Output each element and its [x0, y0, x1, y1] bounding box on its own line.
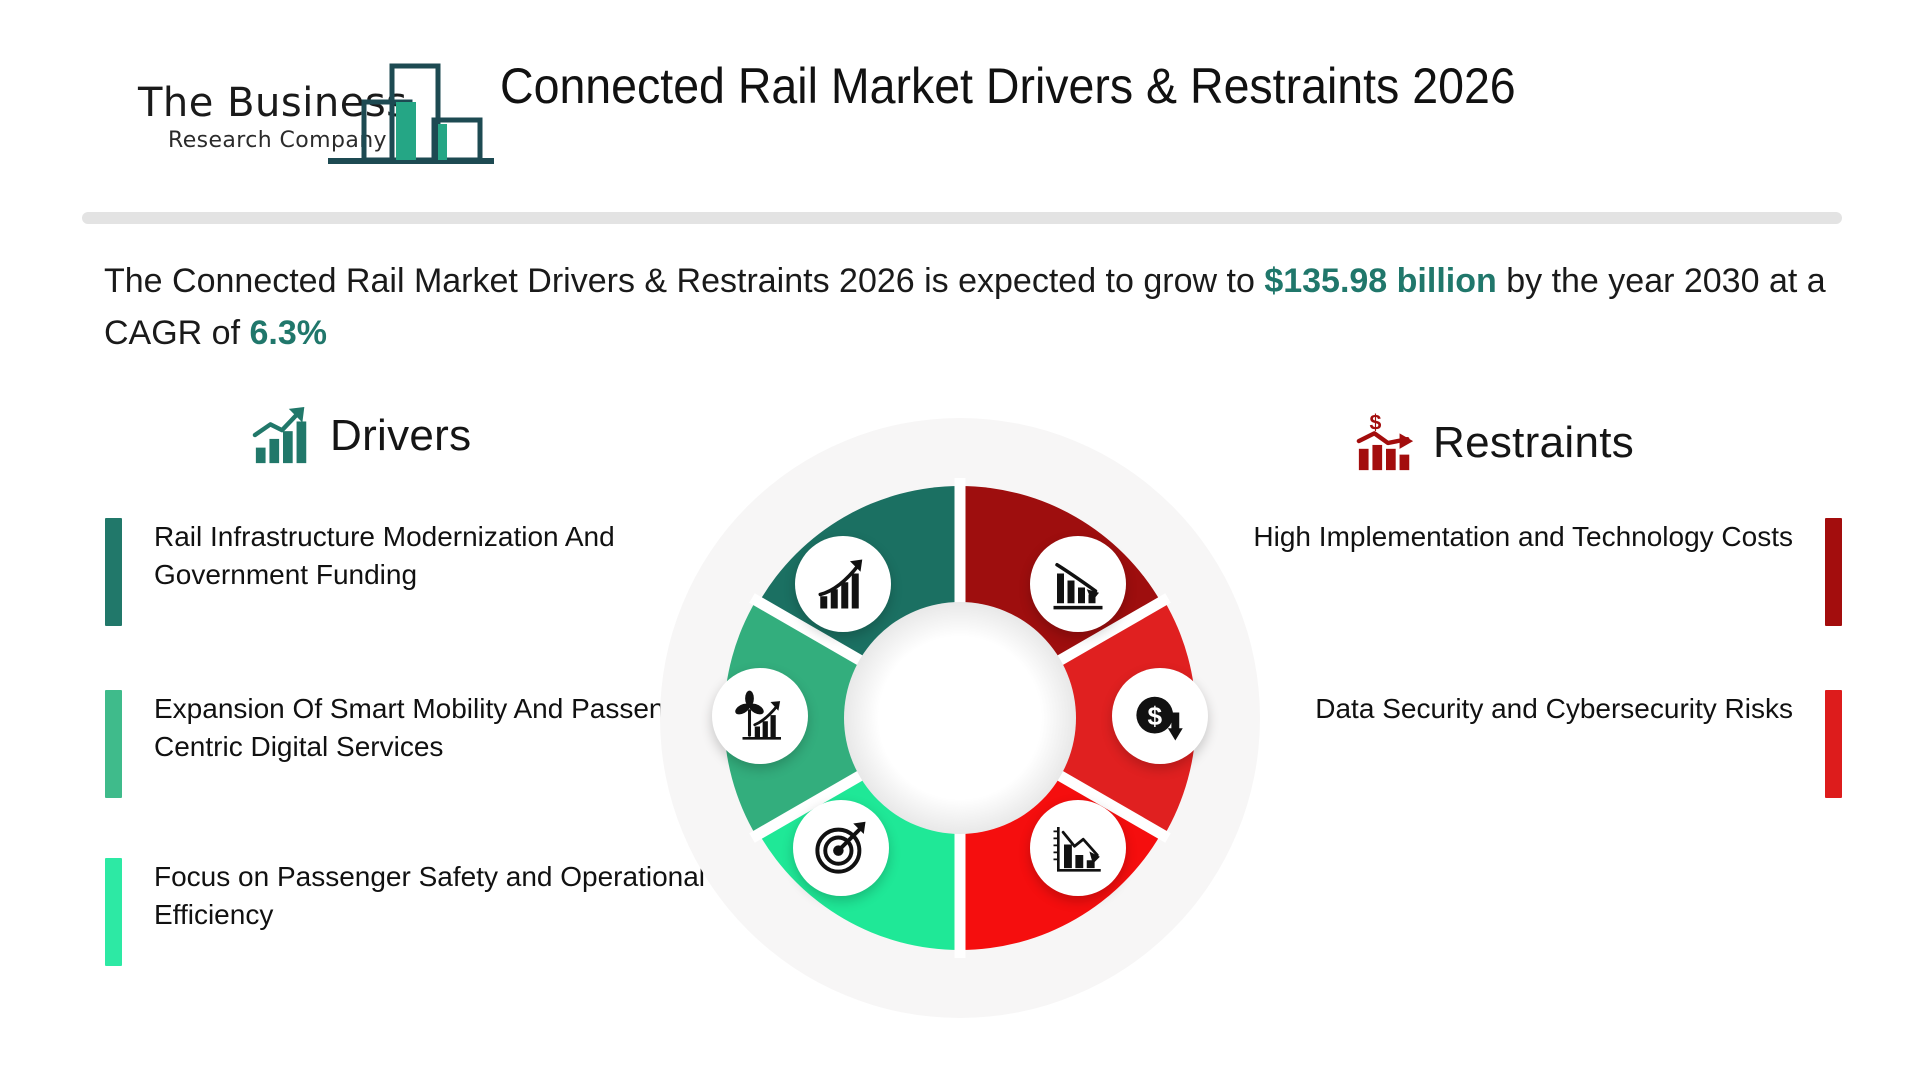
svg-text:$: $ [1370, 412, 1382, 434]
wheel-badge-dollar-down: $ [1112, 668, 1208, 764]
drivers-section-header: Drivers [252, 405, 471, 467]
svg-text:$: $ [1147, 701, 1162, 731]
market-summary-text: The Connected Rail Market Drivers & Rest… [104, 255, 1844, 359]
company-logo: The Business Research Company [128, 58, 468, 168]
dollar-arrow-down-icon: $ [1132, 688, 1188, 744]
driver-item-1: Rail Infrastructure Modernization And Go… [105, 518, 745, 626]
driver-label-2: Expansion Of Smart Mobility And Passenge… [154, 690, 745, 798]
restraint-item-2: Data Security and Cybersecurity Risks [1182, 690, 1842, 798]
summary-part-one: The Connected Rail Market Drivers & Rest… [104, 262, 1264, 300]
restraint-accent-bar-2 [1825, 690, 1842, 798]
driver-label-1: Rail Infrastructure Modernization And Go… [154, 518, 745, 626]
drivers-restraints-wheel: $ [660, 418, 1260, 1018]
drivers-heading: Drivers [330, 411, 471, 461]
driver-accent-bar-2 [105, 690, 122, 798]
restraint-item-1: High Implementation and Technology Costs [1182, 518, 1842, 626]
restraint-label-1: High Implementation and Technology Costs [1182, 518, 1793, 626]
driver-accent-bar-3 [105, 858, 122, 966]
page-title: Connected Rail Market Drivers & Restrain… [500, 56, 1672, 116]
declining-bar-chart-arrow-down-icon [1050, 556, 1106, 612]
driver-item-3: Focus on Passenger Safety and Operationa… [105, 858, 745, 966]
wheel-badge-plant-growth [712, 668, 808, 764]
wheel-badge-decline-bars [1030, 536, 1126, 632]
cagr-highlight: 6.3% [249, 314, 327, 352]
restraint-accent-bar-1 [1825, 518, 1842, 626]
wheel-badge-target [793, 800, 889, 896]
driver-item-2: Expansion Of Smart Mobility And Passenge… [105, 690, 745, 798]
driver-label-3: Focus on Passenger Safety and Operationa… [154, 858, 745, 966]
plant-growth-bar-chart-icon [732, 688, 788, 744]
restraints-section-header: $ Restraints [1355, 412, 1634, 474]
market-value-highlight: $135.98 billion [1264, 262, 1496, 300]
growth-bar-chart-arrow-up-icon [815, 556, 871, 612]
target-dartboard-icon [813, 820, 869, 876]
restraint-label-2: Data Security and Cybersecurity Risks [1182, 690, 1793, 798]
falling-line-chart-icon [1050, 820, 1106, 876]
page-header: The Business Research Company Connected … [0, 0, 1920, 212]
wheel-badge-falling-line [1030, 800, 1126, 896]
wheel-badge-growth [795, 536, 891, 632]
rising-bar-chart-arrow-icon [252, 405, 314, 467]
bar-chart-logo-mark [326, 58, 496, 168]
falling-bar-chart-dollar-icon: $ [1355, 412, 1417, 474]
restraints-heading: Restraints [1433, 418, 1634, 468]
driver-accent-bar-1 [105, 518, 122, 626]
header-divider [82, 212, 1842, 224]
